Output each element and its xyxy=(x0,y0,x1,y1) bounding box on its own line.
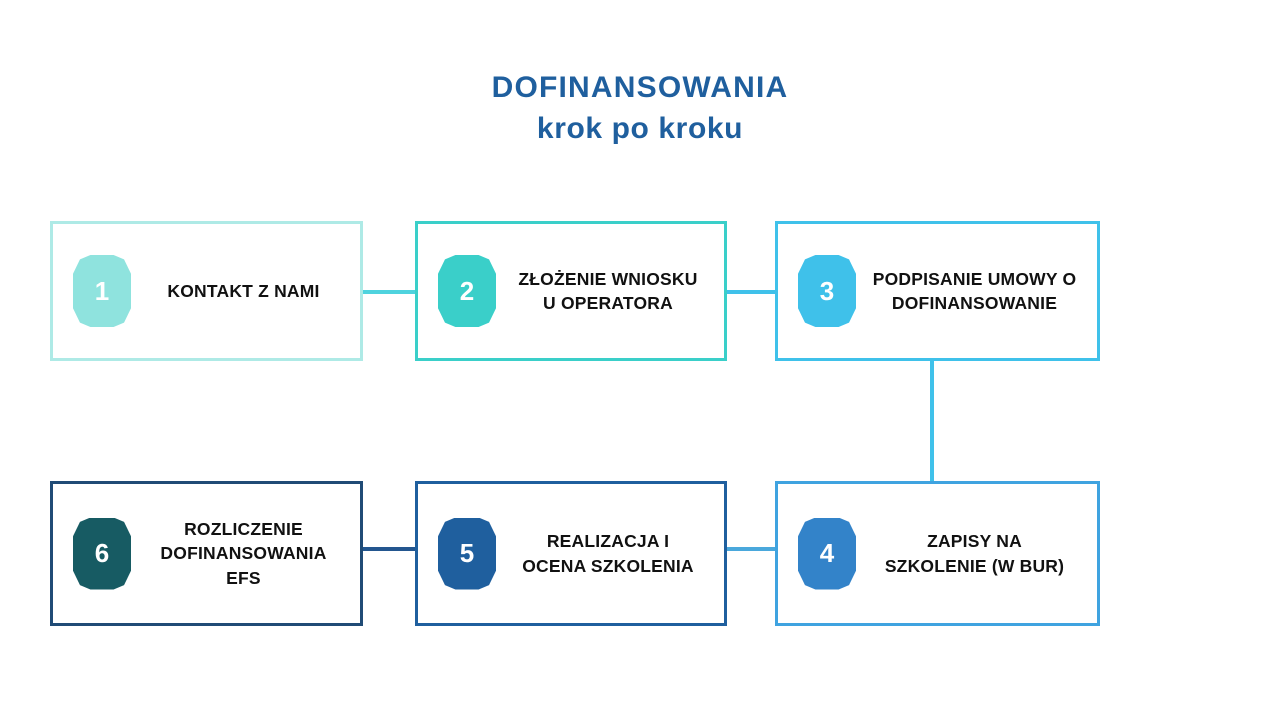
step-label-2: ZŁOŻENIE WNIOSKU U OPERATORA xyxy=(502,267,724,315)
step-box-5[interactable]: 5 REALIZACJA I OCENA SZKOLENIA xyxy=(415,481,727,626)
infographic-canvas: DOFINANSOWANIA krok po kroku 1 KONTAKT Z… xyxy=(0,0,1280,720)
step-number-badge-3: 3 xyxy=(798,255,856,327)
step-number-badge-6: 6 xyxy=(73,518,131,590)
step-label-6: ROZLICZENIE DOFINANSOWANIA EFS xyxy=(137,517,360,589)
step-box-3[interactable]: 3 PODPISANIE UMOWY O DOFINANSOWANIE xyxy=(775,221,1100,361)
step-number-badge-2: 2 xyxy=(438,255,496,327)
step-box-1[interactable]: 1 KONTAKT Z NAMI xyxy=(50,221,363,361)
step-number-4: 4 xyxy=(820,538,834,569)
title-line-2: krok po kroku xyxy=(0,109,1280,150)
step-label-1: KONTAKT Z NAMI xyxy=(137,279,360,303)
step-number-5: 5 xyxy=(460,538,474,569)
step-box-2[interactable]: 2 ZŁOŻENIE WNIOSKU U OPERATORA xyxy=(415,221,727,361)
page-title: DOFINANSOWANIA krok po kroku xyxy=(0,68,1280,149)
step-label-3: PODPISANIE UMOWY O DOFINANSOWANIE xyxy=(862,267,1097,315)
step-number-6: 6 xyxy=(95,538,109,569)
step-box-6[interactable]: 6 ROZLICZENIE DOFINANSOWANIA EFS xyxy=(50,481,363,626)
connector-step1-step2 xyxy=(358,290,420,294)
step-number-badge-5: 5 xyxy=(438,518,496,590)
step-number-badge-4: 4 xyxy=(798,518,856,590)
step-number-1: 1 xyxy=(95,276,109,307)
connector-step4-step5 xyxy=(722,547,780,551)
step-box-4[interactable]: 4 ZAPISY NA SZKOLENIE (W BUR) xyxy=(775,481,1100,626)
connector-step2-step3 xyxy=(722,290,780,294)
connector-step3-step4 xyxy=(930,358,934,484)
step-number-badge-1: 1 xyxy=(73,255,131,327)
step-label-4: ZAPISY NA SZKOLENIE (W BUR) xyxy=(862,529,1097,577)
step-number-2: 2 xyxy=(460,276,474,307)
step-number-3: 3 xyxy=(820,276,834,307)
connector-step5-step6 xyxy=(358,547,420,551)
title-line-1: DOFINANSOWANIA xyxy=(0,68,1280,109)
step-label-5: REALIZACJA I OCENA SZKOLENIA xyxy=(502,529,724,577)
